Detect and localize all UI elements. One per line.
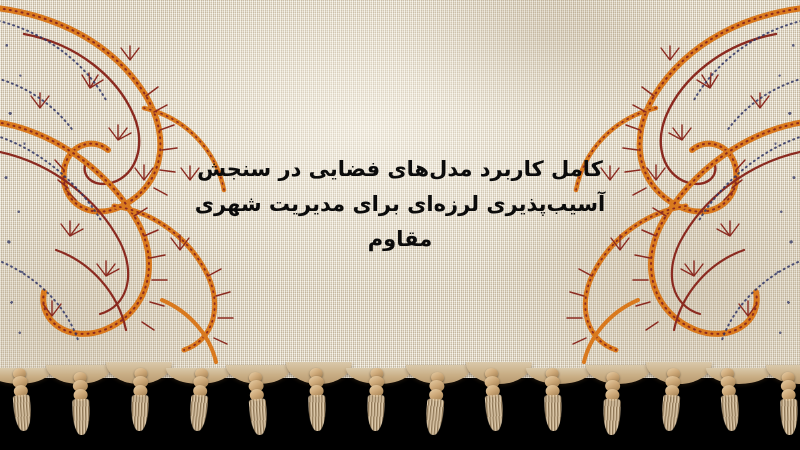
tassel-skirt [544,395,562,431]
title-line-1: کامل کاربرد مدل‌های فضایی در سنجش [0,152,800,187]
tassel-skirt [72,399,90,435]
tassel-fringe [0,366,800,450]
tassel [303,366,331,447]
tassel [6,365,38,447]
tassel-skirt [249,398,269,435]
tassel [183,365,215,447]
tassel-skirt [189,394,209,431]
tassel-skirt [367,395,385,431]
tassel [362,366,390,447]
tassel-skirt [425,398,445,435]
tassel [539,366,567,447]
tassel-skirt [131,395,149,431]
tassel-skirt [13,394,33,431]
tassel-skirt [485,394,505,431]
tassel [598,370,626,450]
tassel [67,370,95,450]
title-card: کامل کاربرد مدل‌های فضایی در سنجش آسیب‌پ… [0,0,800,450]
tassel [714,365,746,447]
tassel-skirt [603,399,621,435]
title-line-3: مقاوم [0,222,800,257]
title-line-2: آسیب‌پذیری لرزه‌ای برای مدیریت شهری [0,187,800,222]
tassel-skirt [780,399,798,435]
tassel [775,370,800,450]
tassel [419,369,451,450]
tassel [242,369,274,450]
tassel-skirt [661,394,681,431]
tassel [655,365,687,447]
tassel-skirt [308,395,326,431]
tassel [478,365,510,447]
page-title: کامل کاربرد مدل‌های فضایی در سنجش آسیب‌پ… [0,152,800,257]
tassel [126,366,154,447]
tassel-skirt [721,394,741,431]
